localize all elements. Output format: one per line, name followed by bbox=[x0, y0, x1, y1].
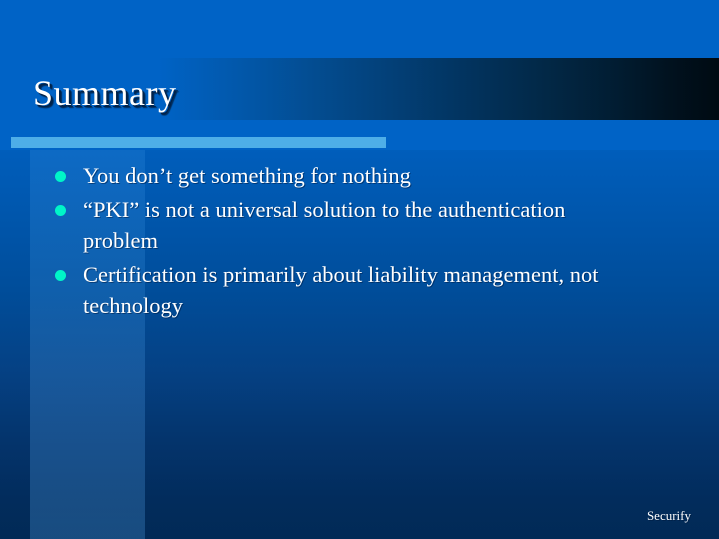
bullet-list: You don’t get something for nothing “PKI… bbox=[55, 160, 675, 324]
bullet-text: Certification is primarily about liabili… bbox=[83, 259, 675, 322]
slide-top-band bbox=[0, 0, 719, 58]
bullet-dot-icon bbox=[55, 259, 83, 281]
slide-title: Summary bbox=[33, 72, 177, 114]
bullet-dot-icon bbox=[55, 194, 83, 216]
bullet-text: You don’t get something for nothing bbox=[83, 160, 675, 192]
presentation-slide: Summary You don’t get something for noth… bbox=[0, 0, 719, 539]
bullet-text: “PKI” is not a universal solution to the… bbox=[83, 194, 675, 257]
slide-footer-brand: Securify bbox=[647, 508, 691, 523]
list-item: You don’t get something for nothing bbox=[55, 160, 675, 192]
bullet-dot-icon bbox=[55, 160, 83, 182]
list-item: Certification is primarily about liabili… bbox=[55, 259, 675, 322]
title-divider-bar bbox=[11, 137, 386, 148]
list-item: “PKI” is not a universal solution to the… bbox=[55, 194, 675, 257]
